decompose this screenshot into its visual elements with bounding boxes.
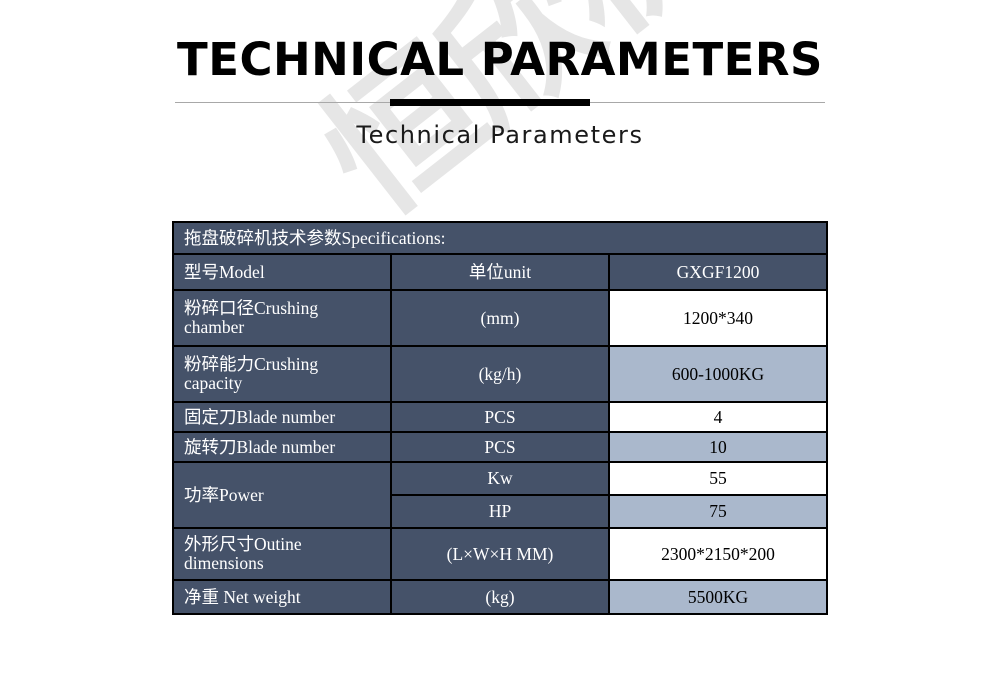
row-label-line1: 外形尺寸Outine [184, 535, 380, 554]
page-title: TECHNICAL PARAMETERS [0, 0, 1000, 83]
row-label-power: 功率Power [174, 463, 390, 527]
row-label-line1: 粉碎口径Crushing [184, 299, 380, 318]
specifications-table-container: 拖盘破碎机技术参数Specifications: 型号Model 单位unit … [172, 221, 828, 615]
row-label-fixed-blade: 固定刀Blade number [174, 403, 390, 431]
row-value-crushing-chamber: 1200*340 [610, 291, 826, 345]
row-unit-power-kw: Kw [392, 463, 608, 494]
row-unit-outline-dimensions: (L×W×H MM) [392, 529, 608, 579]
row-label-outline-dimensions: 外形尺寸Outine dimensions [174, 529, 390, 579]
page-header: TECHNICAL PARAMETERS Technical Parameter… [0, 0, 1000, 149]
table-row: 净重 Net weight (kg) 5500KG [174, 581, 826, 613]
page-subtitle: Technical Parameters [0, 107, 1000, 149]
specifications-table: 拖盘破碎机技术参数Specifications: 型号Model 单位unit … [172, 221, 828, 615]
table-row: 外形尺寸Outine dimensions (L×W×H MM) 2300*21… [174, 529, 826, 579]
column-header-model: 型号Model [174, 255, 390, 289]
column-header-unit: 单位unit [392, 255, 608, 289]
table-header-row: 型号Model 单位unit GXGF1200 [174, 255, 826, 289]
row-value-fixed-blade: 4 [610, 403, 826, 431]
row-label-line2: capacity [184, 374, 380, 393]
row-label-crushing-capacity: 粉碎能力Crushing capacity [174, 347, 390, 401]
table-row: 固定刀Blade number PCS 4 [174, 403, 826, 431]
row-value-power-kw: 55 [610, 463, 826, 494]
table-row: 旋转刀Blade number PCS 10 [174, 433, 826, 461]
divider-accent-bar [390, 99, 590, 106]
row-value-rotary-blade: 10 [610, 433, 826, 461]
row-label-crushing-chamber: 粉碎口径Crushing chamber [174, 291, 390, 345]
row-unit-fixed-blade: PCS [392, 403, 608, 431]
row-unit-net-weight: (kg) [392, 581, 608, 613]
row-value-net-weight: 5500KG [610, 581, 826, 613]
row-unit-crushing-chamber: (mm) [392, 291, 608, 345]
row-value-crushing-capacity: 600-1000KG [610, 347, 826, 401]
row-value-power-hp: 75 [610, 496, 826, 527]
table-caption: 拖盘破碎机技术参数Specifications: [174, 223, 826, 253]
row-unit-crushing-capacity: (kg/h) [392, 347, 608, 401]
table-row: 粉碎能力Crushing capacity (kg/h) 600-1000KG [174, 347, 826, 401]
column-header-model-value: GXGF1200 [610, 255, 826, 289]
row-value-outline-dimensions: 2300*2150*200 [610, 529, 826, 579]
table-row: 功率Power Kw 55 [174, 463, 826, 494]
row-unit-rotary-blade: PCS [392, 433, 608, 461]
row-label-net-weight: 净重 Net weight [174, 581, 390, 613]
title-divider [175, 99, 825, 107]
row-label-line2: dimensions [184, 554, 380, 573]
row-label-line2: chamber [184, 318, 380, 337]
row-unit-power-hp: HP [392, 496, 608, 527]
table-caption-row: 拖盘破碎机技术参数Specifications: [174, 223, 826, 253]
row-label-line1: 粉碎能力Crushing [184, 355, 380, 374]
row-label-rotary-blade: 旋转刀Blade number [174, 433, 390, 461]
table-row: 粉碎口径Crushing chamber (mm) 1200*340 [174, 291, 826, 345]
